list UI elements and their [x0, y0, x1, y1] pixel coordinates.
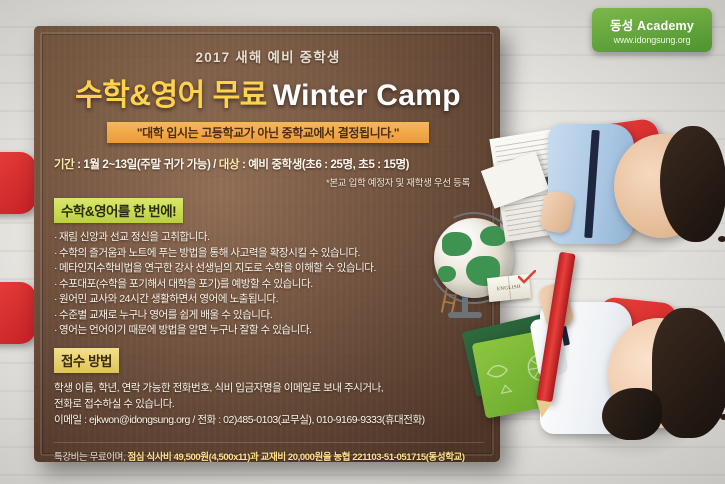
features-heading: 수학&영어를 한 번에!: [54, 198, 183, 223]
target-colon: :: [239, 159, 248, 171]
quote-text: "대학 입시는 고등학교가 아닌 중학교에서 결정됩니다.": [137, 124, 399, 141]
poster-image: 동성 Academy www.idongsung.org 2017 새해 예비 …: [0, 0, 725, 484]
footer-divider: [54, 442, 484, 443]
apply-body: 학생 이름, 학년, 연락 가능한 전화번호, 식비 입금자명을 이메일로 보내…: [54, 380, 482, 428]
red-chair-left-upper: [0, 152, 36, 214]
academy-url: www.idongsung.org: [614, 35, 691, 45]
academy-name: 동성 Academy: [610, 15, 694, 34]
globe-base: [448, 312, 482, 318]
target-value: 예비 중학생(초6 : 25명, 초5 : 15명): [248, 159, 409, 171]
boy-eye: [718, 236, 725, 242]
student-boy: [548, 96, 724, 268]
girl-hair: [652, 308, 725, 438]
boy-hair: [660, 126, 725, 242]
headline-english: Winter Camp: [273, 79, 461, 112]
schedule-separator: /: [210, 159, 218, 171]
period-label: 기간: [54, 159, 74, 171]
schedule-line: 기간 : 1월 2~13일(주말 귀가 가능) / 대상 : 예비 중학생(초6…: [54, 156, 482, 172]
note-1-prefix: 특강비는 무료이며,: [54, 452, 127, 463]
period-value: 1월 2~13일(주말 귀가 가능): [83, 159, 210, 171]
academy-logo-badge[interactable]: 동성 Academy www.idongsung.org: [592, 8, 712, 52]
note-1-highlight: 점심 식사비 49,500원(4,500x11)과 교재비 20,000원을 농…: [127, 452, 464, 463]
girl-hair-fringe: [602, 388, 662, 440]
check-mark-icon: [518, 270, 536, 284]
schedule-note: *본교 입학 예정자 및 재학생 우선 등록: [54, 175, 482, 189]
headline-korean: 수학&영어 무료: [75, 79, 267, 112]
apply-contact[interactable]: 이메일 : ejkwon@idongsung.org / 전화 : 02)485…: [54, 412, 482, 428]
note-line-1: 특강비는 무료이며, 점심 식사비 49,500원(4,500x11)과 교재비…: [54, 451, 482, 463]
poster-kicker: 2017 새해 예비 중학생: [54, 46, 482, 66]
book-label: ENGLISH: [497, 284, 522, 292]
poster-headline: 수학&영어 무료Winter Camp: [54, 70, 482, 114]
target-label: 대상: [219, 159, 239, 171]
footer-notes: 특강비는 무료이며, 점심 식사비 49,500원(4,500x11)과 교재비…: [54, 451, 482, 463]
red-chair-left-lower: [0, 282, 36, 344]
apply-line-1: 학생 이름, 학년, 연락 가능한 전화번호, 식비 입금자명을 이메일로 보내…: [54, 380, 482, 396]
quote-banner: "대학 입시는 고등학교가 아닌 중학교에서 결정됩니다.": [107, 122, 429, 143]
apply-heading: 접수 방법: [54, 348, 119, 373]
student-girl: [540, 292, 725, 482]
apply-line-2: 전화로 접수하실 수 있습니다.: [54, 396, 482, 412]
